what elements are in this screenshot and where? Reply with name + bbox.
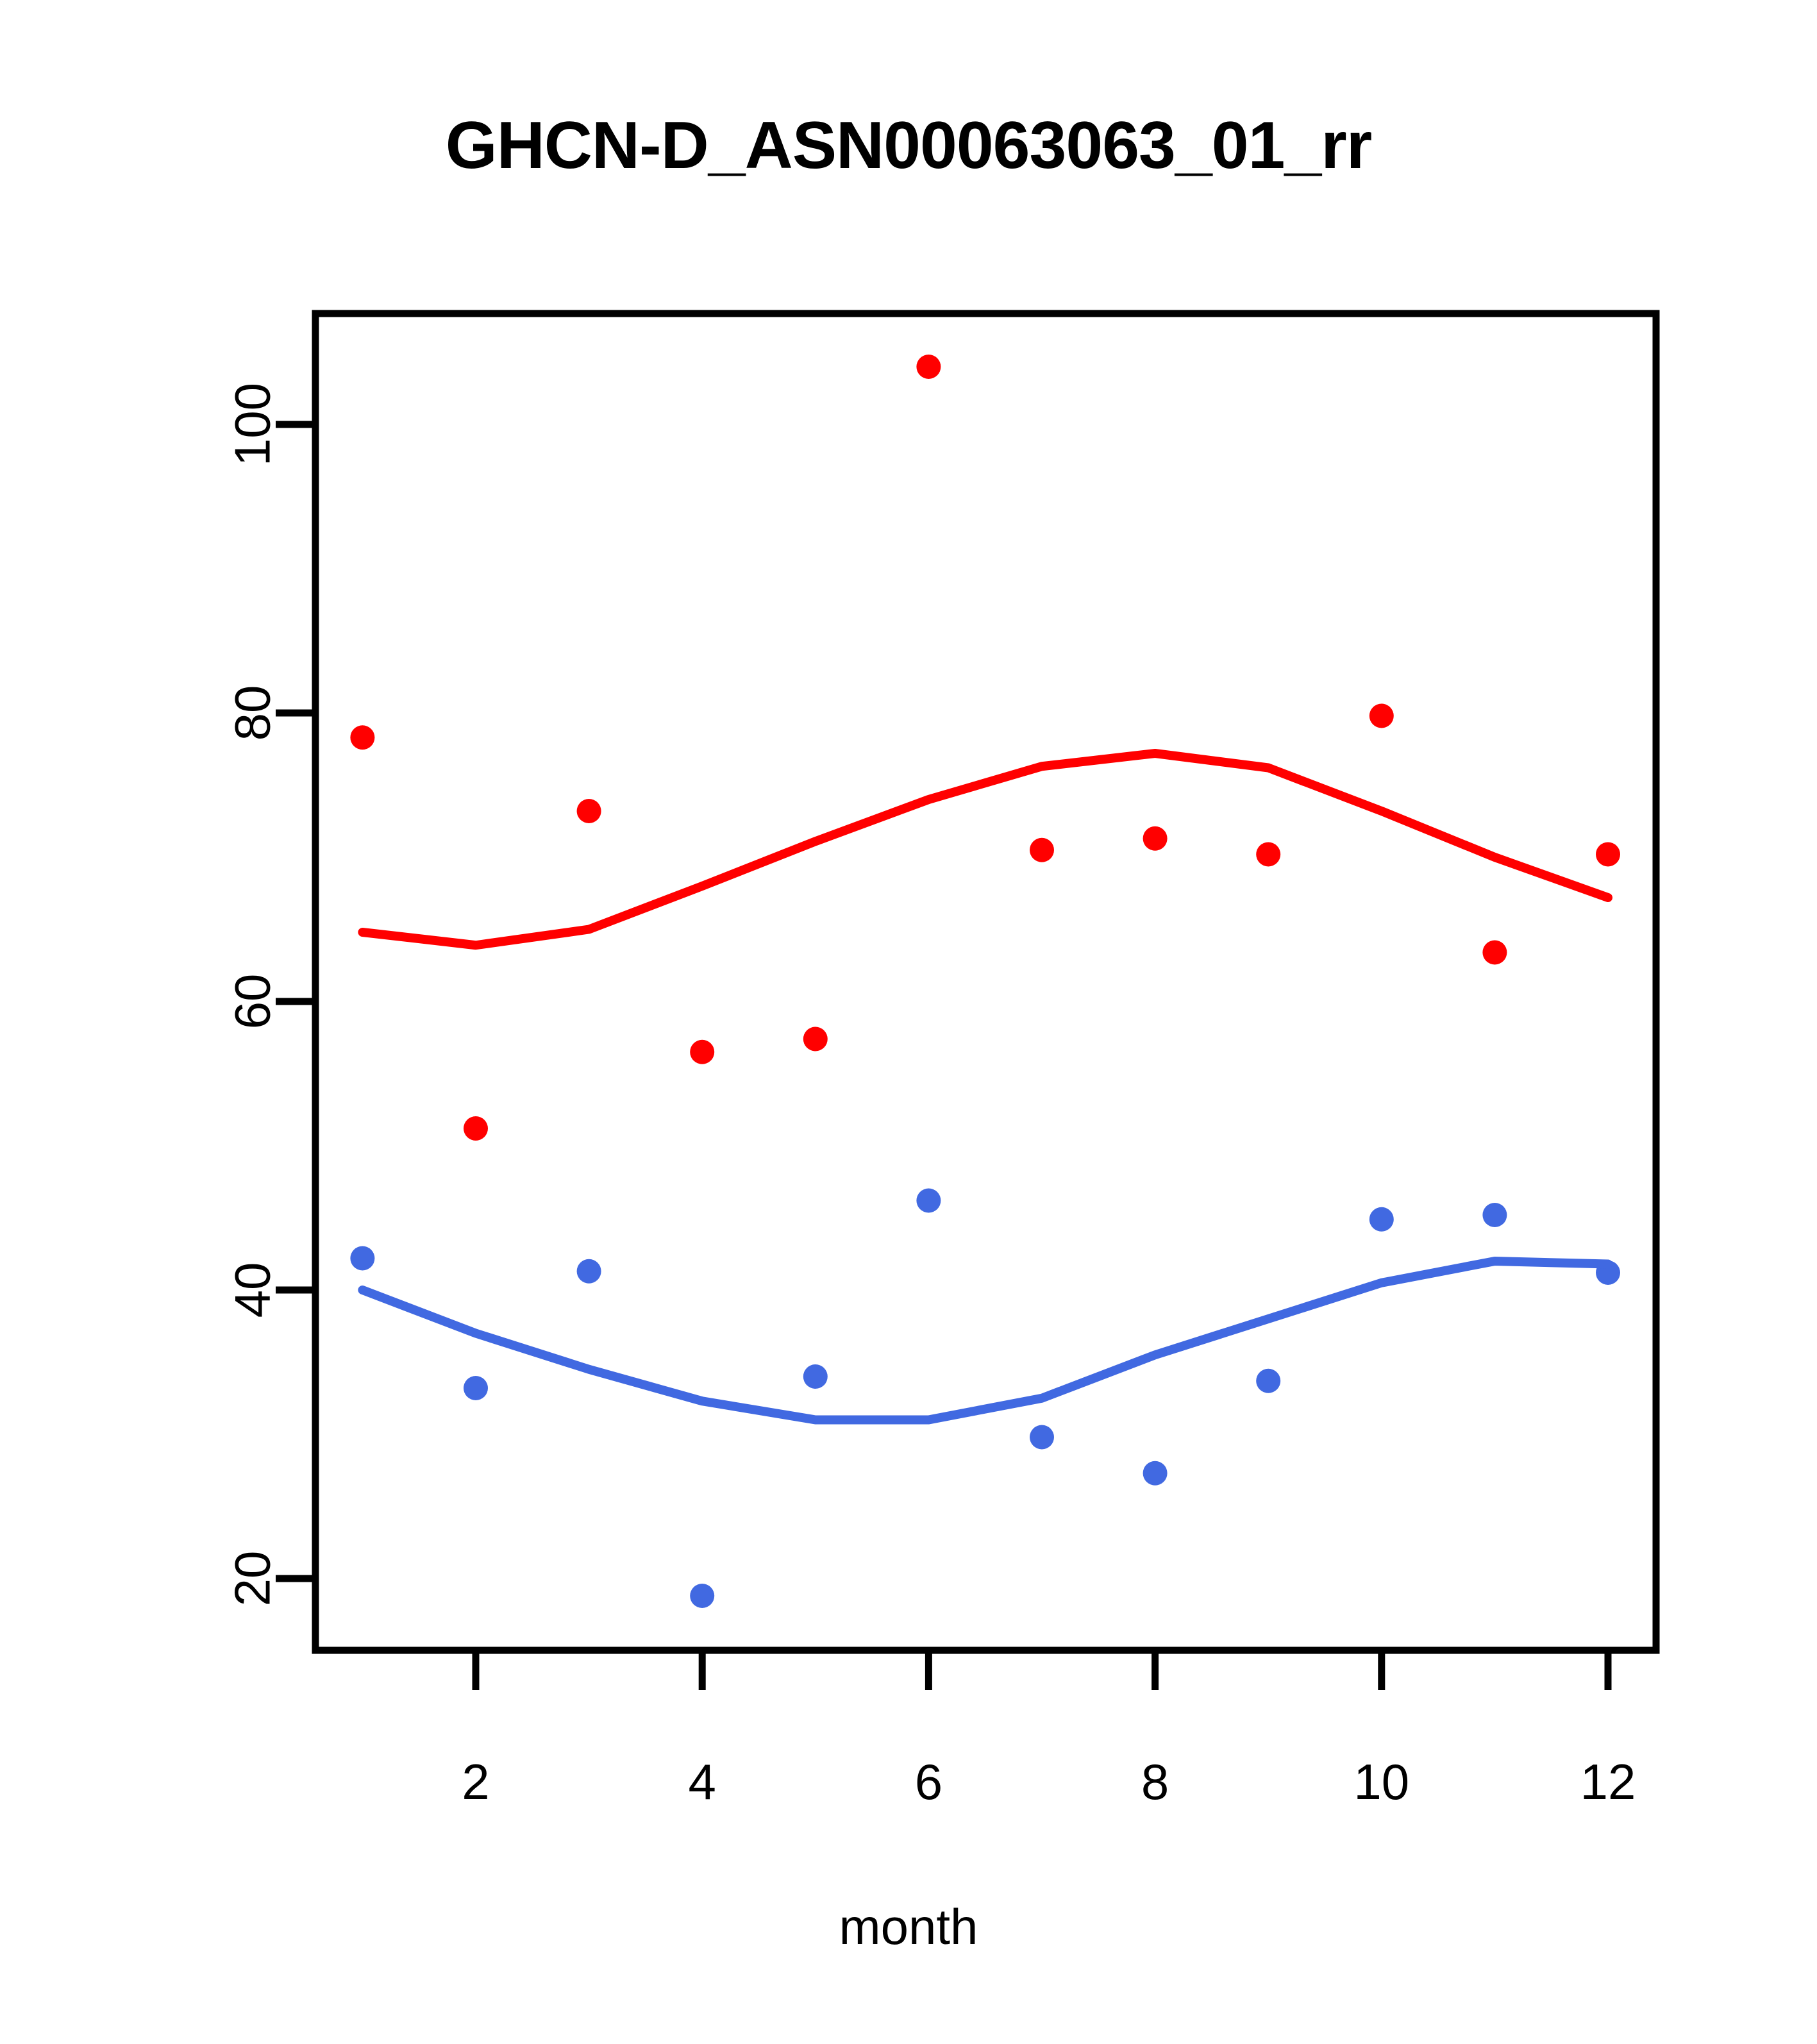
plot-figure: GHCN-D_ASN00063063_01_rr 20406080100 246…	[0, 0, 1817, 2044]
blue-points-marker	[577, 1259, 601, 1284]
blue-points-marker	[350, 1246, 374, 1271]
x-tick-label-4: 4	[689, 1754, 716, 1810]
red-trend-path	[362, 753, 1608, 945]
x-tick-label-8: 8	[1141, 1754, 1169, 1810]
y-tick-label-40: 40	[224, 1262, 281, 1318]
x-tick-label-12: 12	[1580, 1754, 1636, 1810]
red-points-marker	[1030, 838, 1054, 862]
red-points-marker	[350, 725, 374, 750]
blue-points-marker	[1143, 1461, 1168, 1486]
x-axis-tick-labels: 24681012	[462, 1754, 1636, 1810]
y-tick-label-80: 80	[224, 685, 281, 741]
red-points-marker	[1256, 842, 1280, 867]
blue-points-marker	[1369, 1207, 1394, 1232]
series-blue-trend	[362, 1261, 1608, 1420]
red-points-marker	[1369, 704, 1394, 728]
series-red-points	[350, 355, 1620, 1141]
x-axis-ticks	[476, 1650, 1608, 1690]
blue-trend-path	[362, 1261, 1608, 1420]
blue-points-marker	[690, 1584, 714, 1608]
y-tick-label-60: 60	[224, 974, 281, 1030]
plot-canvas: 20406080100 24681012	[0, 0, 1817, 2044]
x-tick-label-2: 2	[462, 1754, 489, 1810]
red-points-marker	[690, 1040, 714, 1064]
blue-points-marker	[464, 1376, 488, 1400]
red-points-marker	[803, 1027, 828, 1051]
y-axis-ticks	[276, 424, 315, 1579]
data-series-layer	[350, 355, 1620, 1608]
red-points-marker	[1596, 842, 1620, 867]
series-red-trend	[362, 753, 1608, 945]
y-tick-label-20: 20	[224, 1551, 281, 1607]
blue-points-marker	[1256, 1369, 1280, 1393]
plot-border	[315, 314, 1656, 1650]
blue-points-marker	[1030, 1425, 1054, 1450]
x-axis-label: month	[0, 1898, 1817, 1956]
blue-points-marker	[916, 1189, 941, 1213]
x-tick-label-6: 6	[915, 1754, 942, 1810]
red-points-marker	[577, 799, 601, 823]
red-points-marker	[1143, 826, 1168, 851]
y-tick-label-100: 100	[224, 383, 281, 466]
blue-points-marker	[803, 1364, 828, 1389]
x-tick-label-10: 10	[1353, 1754, 1409, 1810]
red-points-marker	[916, 355, 941, 379]
blue-points-marker	[1482, 1203, 1507, 1227]
red-points-marker	[1482, 941, 1507, 965]
series-blue-points	[350, 1189, 1620, 1609]
y-axis-tick-labels: 20406080100	[224, 383, 281, 1606]
red-points-marker	[464, 1116, 488, 1141]
